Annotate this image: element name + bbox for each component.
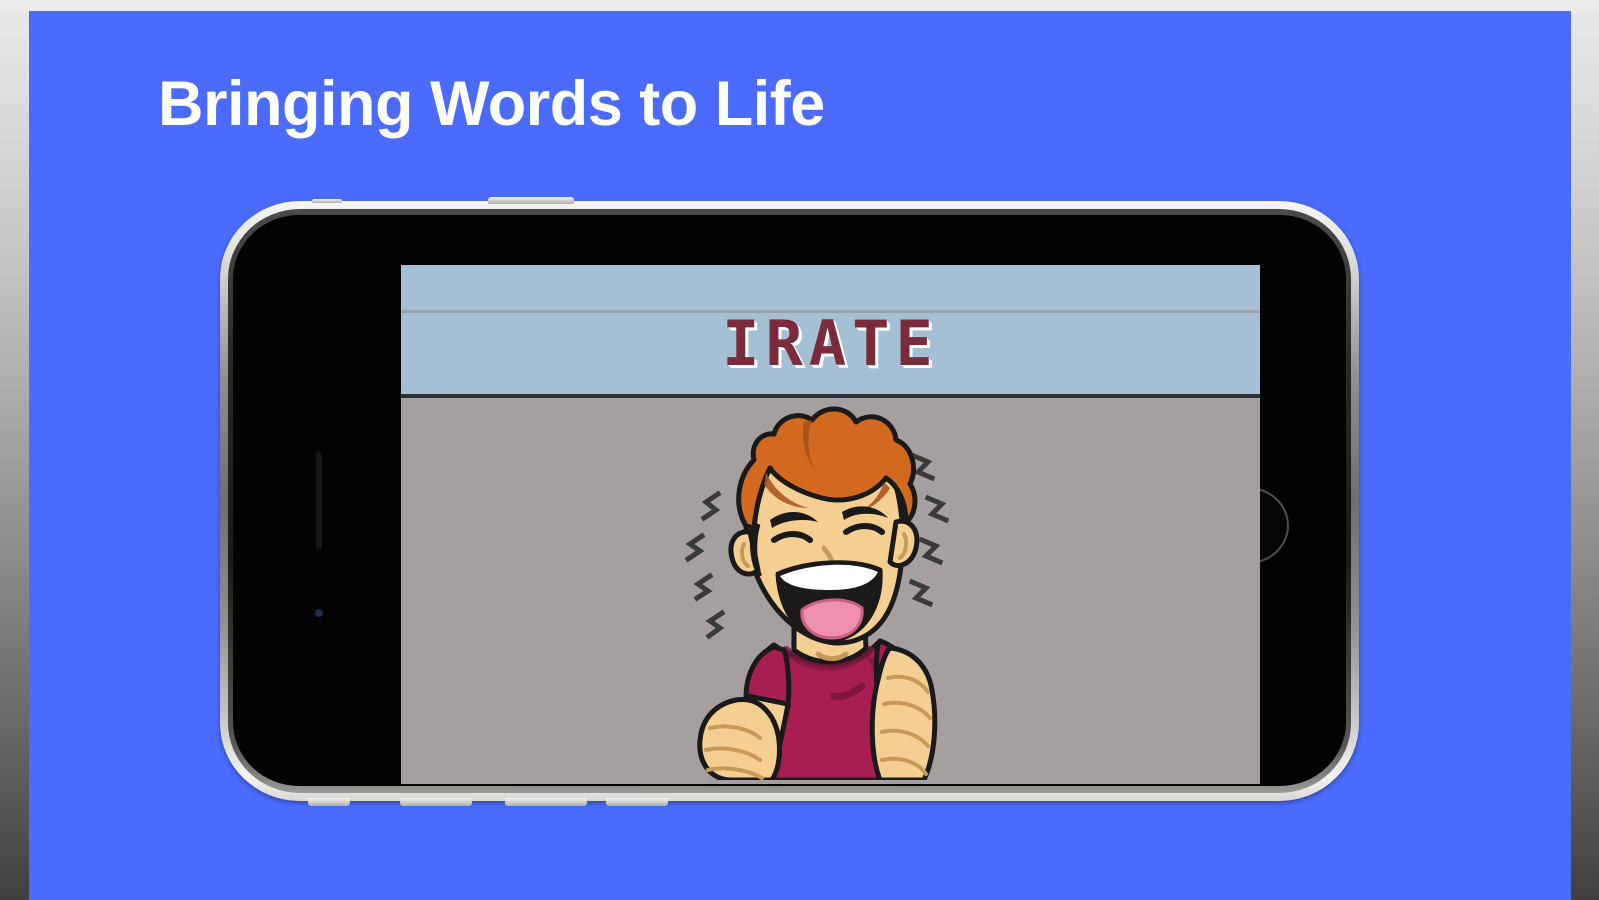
mute-switch[interactable] (308, 798, 350, 806)
left-gradient-strip (0, 0, 30, 900)
front-camera-dot (315, 609, 323, 617)
volume-up-button[interactable] (400, 798, 472, 806)
sim-tray (312, 199, 342, 203)
earpiece-slot (316, 452, 322, 549)
app-screen[interactable]: IRATE (401, 265, 1260, 784)
phone-mockup: IRATE (220, 201, 1359, 801)
top-light-strip (0, 0, 1599, 11)
right-gradient-strip (1569, 0, 1599, 900)
page-title: Bringing Words to Life (158, 73, 825, 136)
phone-face: IRATE (233, 215, 1346, 786)
sleep-wake-button[interactable] (488, 197, 574, 204)
word-header-bar: IRATE (401, 265, 1260, 398)
illustration-area (401, 398, 1260, 780)
presentation-slide: Bringing Words to Life IRATE (29, 11, 1571, 900)
angry-boy-illustration (666, 398, 996, 780)
vocabulary-word: IRATE (401, 313, 1260, 375)
volume-down-button[interactable] (505, 798, 587, 806)
slide-stage: Bringing Words to Life IRATE (0, 0, 1599, 900)
bottom-port (606, 798, 668, 806)
